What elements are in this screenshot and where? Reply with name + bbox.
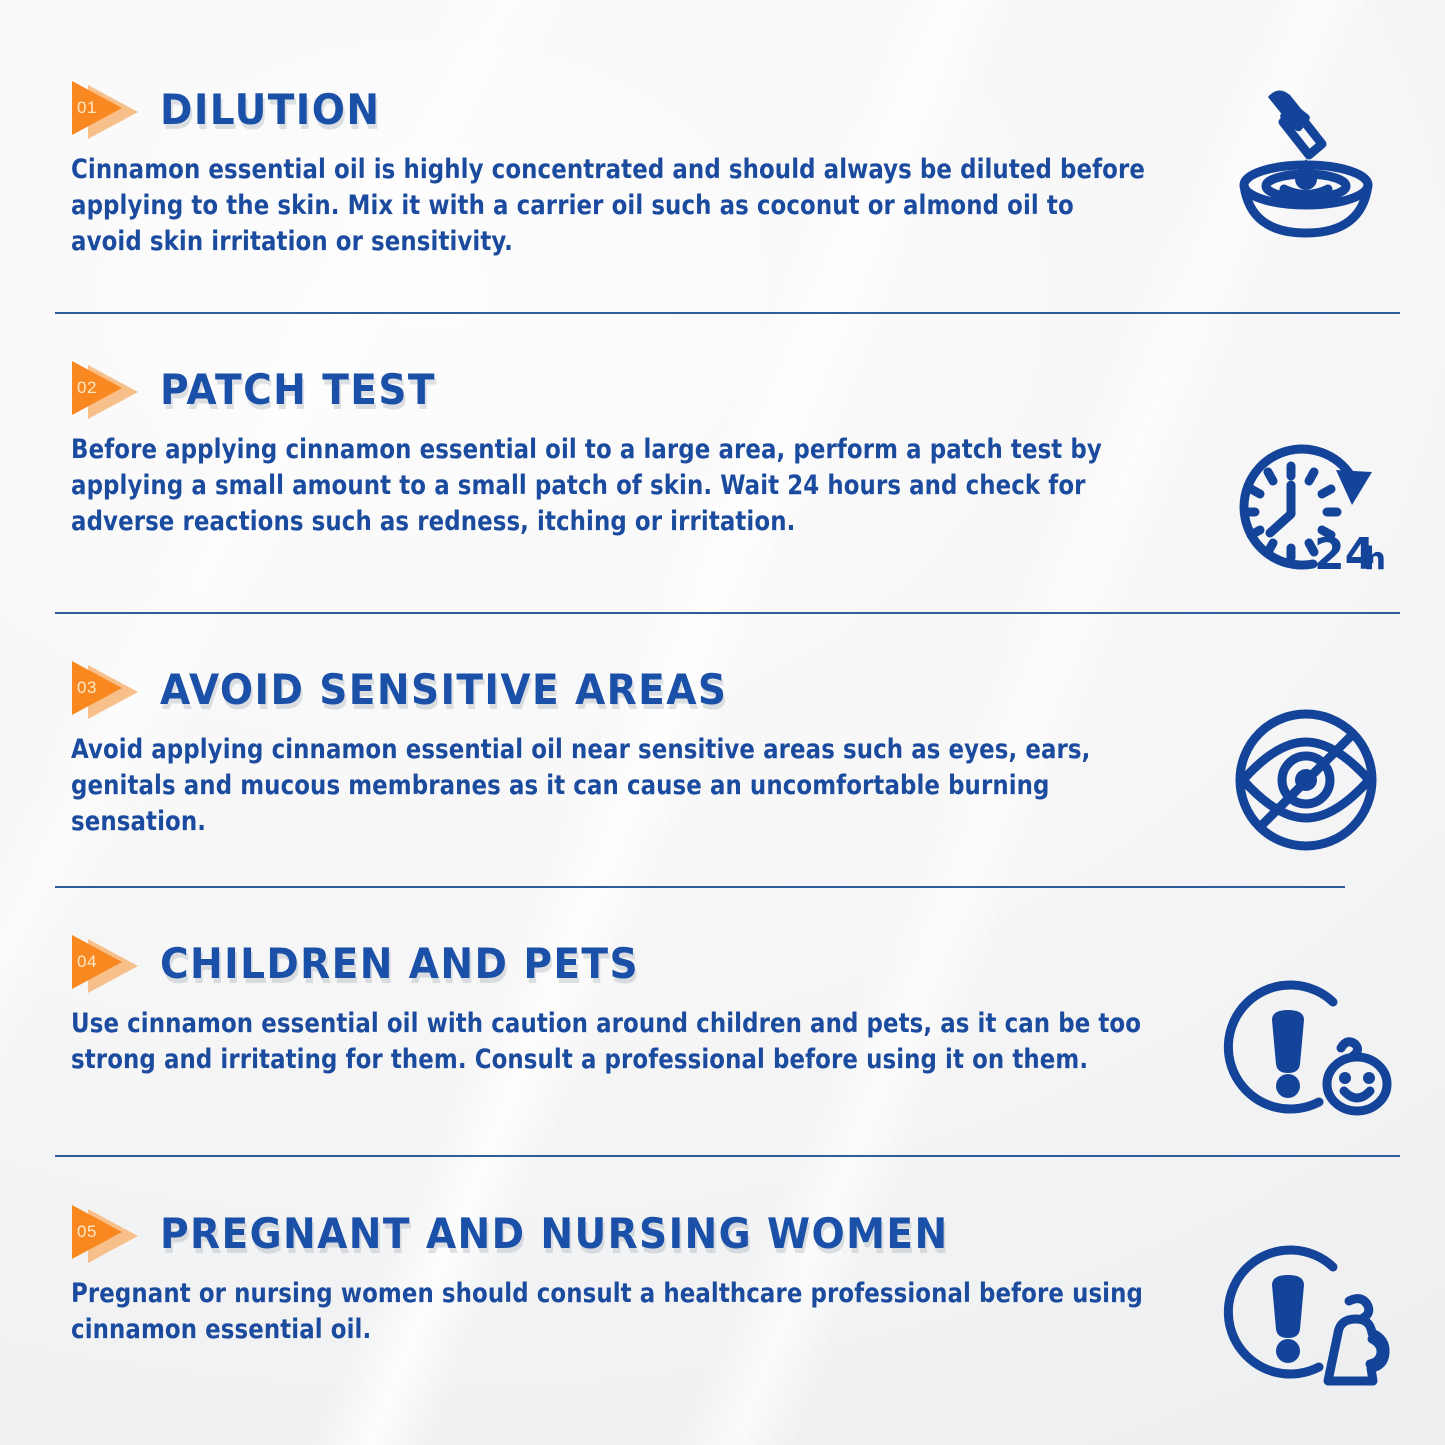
- dropper-bowl-icon: [1218, 85, 1393, 245]
- section-title: CHILDREN AND PETS: [160, 939, 639, 988]
- step-badge-03: 03: [72, 661, 144, 717]
- step-number: 01: [77, 98, 105, 118]
- section-title: AVOID SENSITIVE AREAS: [160, 665, 727, 714]
- section-divider: [55, 1155, 1400, 1157]
- section-body: Before applying cinnamon essential oil t…: [0, 432, 1387, 539]
- step-badge-02: 02: [72, 361, 144, 417]
- svg-text:h: h: [1364, 541, 1386, 577]
- step-number: 04: [77, 952, 105, 972]
- safety-tips-list: 01 DILUTION Cinnamon essential oil is hi…: [0, 0, 1445, 1445]
- section-body: Cinnamon essential oil is highly concent…: [0, 152, 1387, 259]
- step-number: 05: [77, 1222, 105, 1242]
- section-title: PREGNANT AND NURSING WOMEN: [160, 1209, 949, 1258]
- clock-24h-icon: 24 h: [1218, 438, 1393, 598]
- warning-baby-icon: [1218, 975, 1393, 1135]
- section-body: Avoid applying cinnamon essential oil ne…: [0, 732, 1387, 839]
- step-badge-04: 04: [72, 935, 144, 991]
- step-badge-05: 05: [72, 1205, 144, 1261]
- section-divider: [55, 312, 1400, 314]
- section-title: PATCH TEST: [160, 365, 436, 414]
- step-number: 02: [77, 378, 105, 398]
- step-number: 03: [77, 678, 105, 698]
- infographic-page: 01 DILUTION Cinnamon essential oil is hi…: [0, 0, 1445, 1445]
- section-divider: [55, 612, 1400, 614]
- section-header: 02 PATCH TEST: [0, 358, 1445, 420]
- section-body: Use cinnamon essential oil with caution …: [0, 1006, 1387, 1078]
- warning-pregnant-icon: [1218, 1240, 1393, 1400]
- section-title: DILUTION: [160, 85, 380, 134]
- no-eye-icon: [1218, 700, 1393, 860]
- section-divider: [55, 886, 1345, 888]
- step-badge-01: 01: [72, 81, 144, 137]
- section-body: Pregnant or nursing women should consult…: [0, 1276, 1387, 1348]
